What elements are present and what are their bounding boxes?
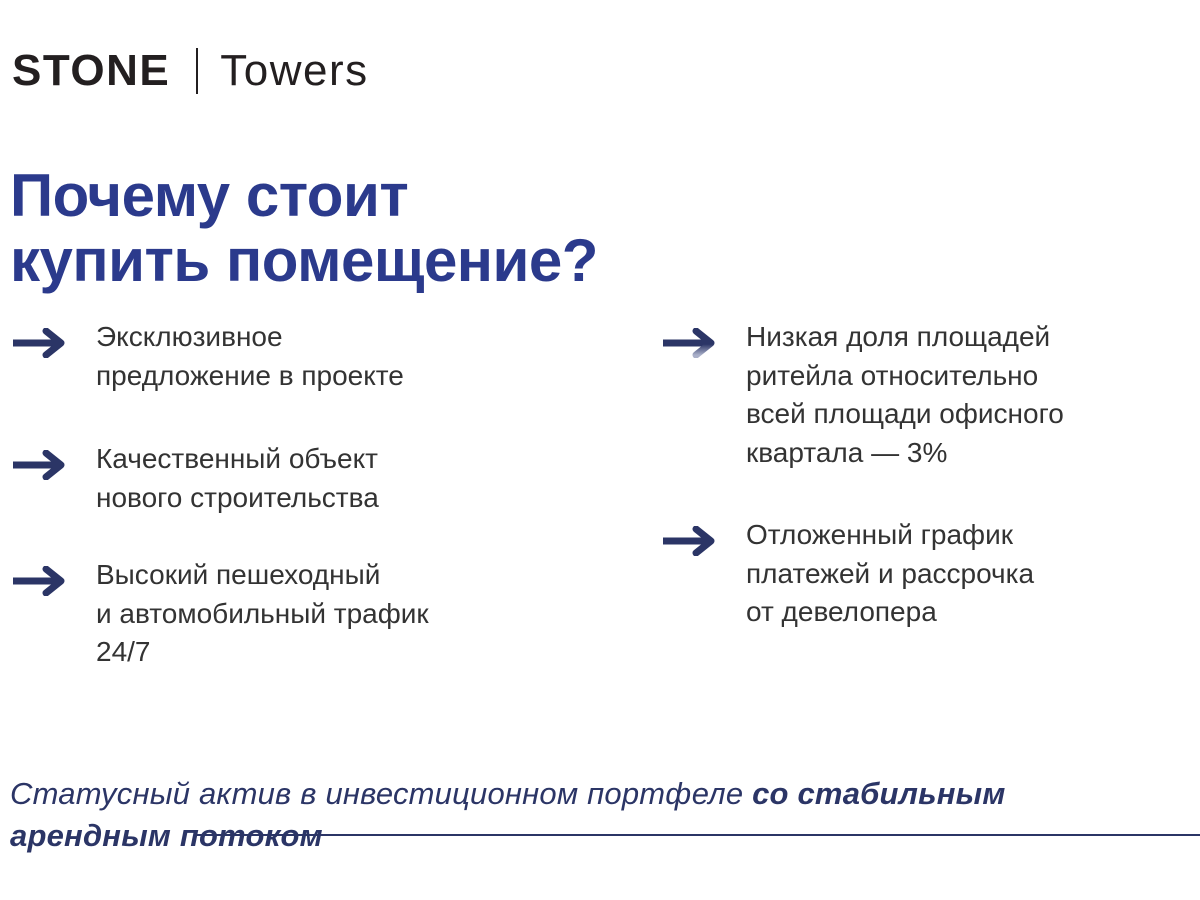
brand-logo: STONE Towers xyxy=(12,48,369,94)
arrow-right-icon xyxy=(12,318,74,358)
slide-root: STONE Towers Почему стоит купить помещен… xyxy=(0,0,1200,900)
list-item-label: Качественный объект нового строительства xyxy=(74,440,379,517)
list-item: Качественный объект нового строительства xyxy=(12,440,379,517)
list-item: Отложенный график платежей и рассрочка о… xyxy=(662,516,1034,632)
list-item: Низкая доля площадей ритейла относительн… xyxy=(662,318,1064,473)
tagline-regular: Статусный актив в инвестиционном портфел… xyxy=(10,776,752,811)
brand-divider-icon xyxy=(196,48,198,94)
arrow-right-icon xyxy=(12,440,74,480)
brand-name: STONE xyxy=(12,49,170,93)
list-item: Эксклюзивное предложение в проекте xyxy=(12,318,404,395)
list-item-label: Низкая доля площадей ритейла относительн… xyxy=(724,318,1064,473)
list-item: Высокий пешеходный и автомобильный трафи… xyxy=(12,556,429,672)
page-title: Почему стоит купить помещение? xyxy=(10,164,910,294)
brand-product-name: Towers xyxy=(220,49,368,93)
list-item-label: Высокий пешеходный и автомобильный трафи… xyxy=(74,556,429,672)
list-item-label: Эксклюзивное предложение в проекте xyxy=(74,318,404,395)
list-item-label: Отложенный график платежей и рассрочка о… xyxy=(724,516,1034,632)
bottom-divider xyxy=(196,834,1200,836)
arrow-right-icon xyxy=(662,516,724,556)
tagline: Статусный актив в инвестиционном портфел… xyxy=(10,773,1130,856)
arrow-right-icon xyxy=(12,556,74,596)
arrow-right-icon xyxy=(662,318,724,358)
